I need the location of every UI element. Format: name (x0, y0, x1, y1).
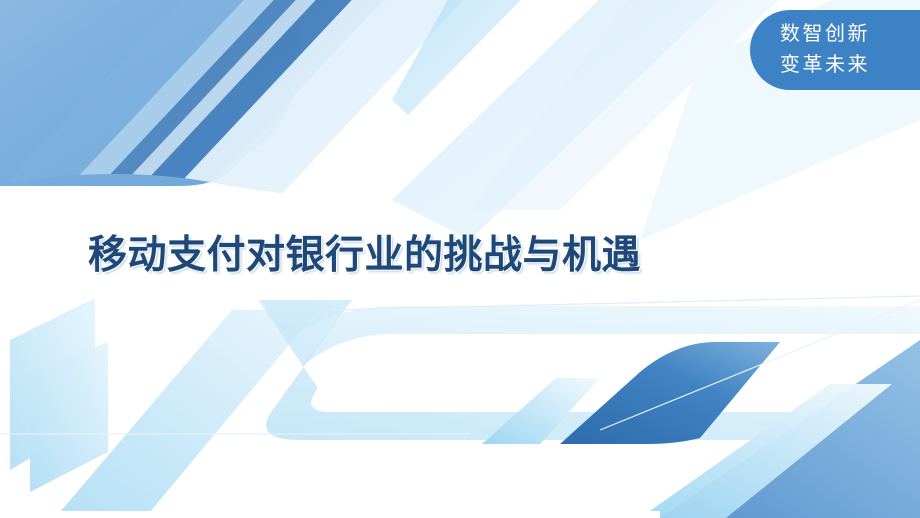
top-diagonal-band-separator (80, 0, 372, 230)
badge-line-1: 数智创新 (780, 19, 920, 50)
top-right-wedge (392, 0, 760, 240)
top-right-wedge-tip (392, 0, 560, 115)
top-diagonal-band-pale (136, 0, 520, 230)
top-left-rounded-panel (0, 0, 300, 186)
bottom-left-pale-arrow-lower (60, 310, 318, 512)
bottom-white-strip (0, 511, 660, 518)
top-left-panel-rounded-corner (0, 0, 240, 184)
top-left-rounded-panel-body (0, 0, 250, 186)
bottom-center-sweep (560, 342, 780, 444)
top-diagonal-band-3 (0, 0, 430, 230)
bottom-left-large-chevron (258, 300, 920, 440)
bottom-right-pale-sliver (640, 384, 892, 518)
page-title: 移动支付对银行业的挑战与机遇 (88, 232, 641, 280)
hairline-diagonal (600, 300, 920, 430)
hairline-upper (330, 296, 920, 310)
badge-line-2: 变革未来 (780, 50, 920, 81)
presentation-slide: 数智创新 变革未来 移动支付对银行业的挑战与机遇 (0, 0, 920, 518)
bottom-right-triangle (660, 340, 920, 518)
bottom-pale-sliver (482, 378, 600, 444)
top-diagonal-band-1 (58, 0, 440, 230)
top-diagonal-band-2 (28, 0, 372, 230)
bottom-left-chevron (30, 342, 108, 492)
bottom-center-light-body (262, 300, 920, 368)
bottom-left-pale-arrow (10, 298, 95, 470)
corner-badge: 数智创新 变革未来 (750, 10, 920, 90)
